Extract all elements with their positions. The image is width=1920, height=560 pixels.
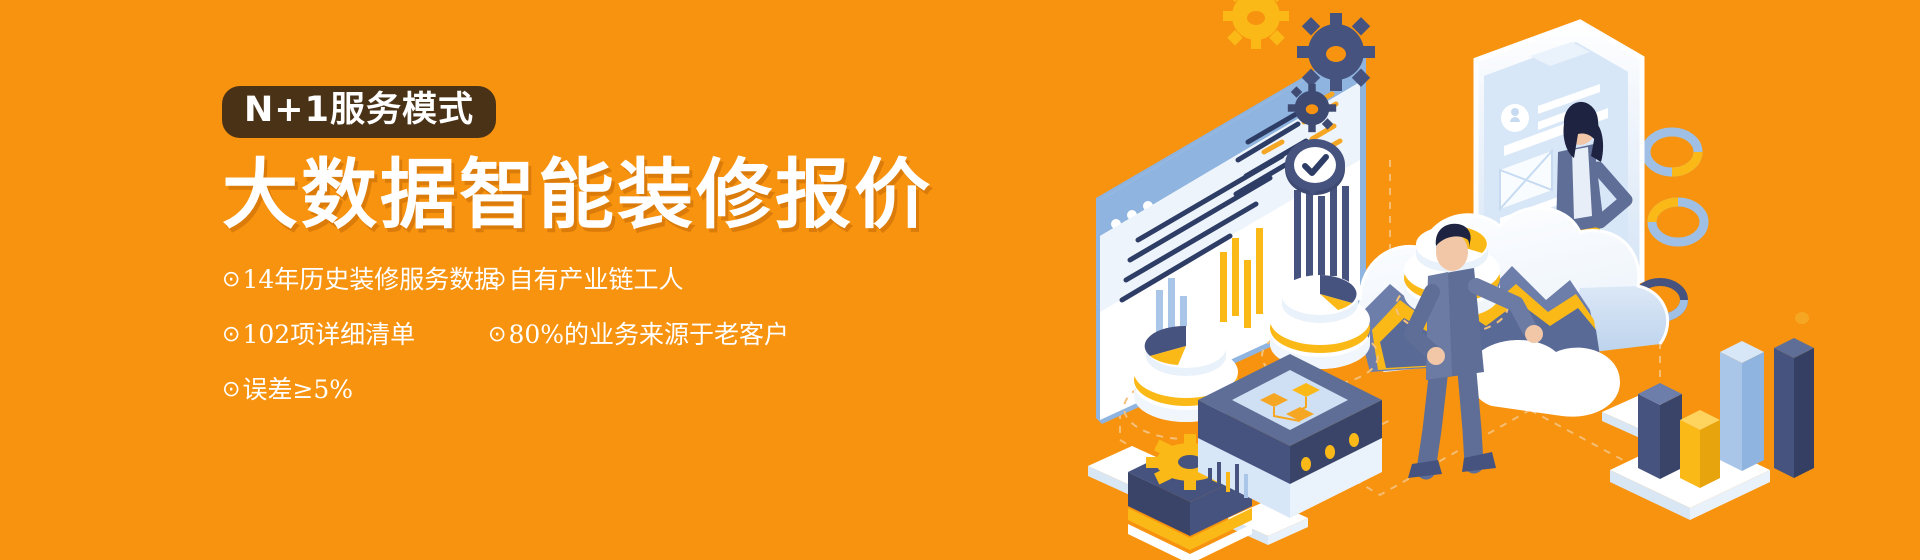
list-item: ⊙误差≥5%	[222, 377, 488, 403]
list-item-label: 自有产业链工人	[508, 265, 683, 294]
banner-copy-block: N+1服务模式 大数据智能装修报价 ⊙14年历史装修服务数据 ⊙102项详细清单…	[222, 86, 982, 432]
gear-navy-icon	[1297, 13, 1375, 91]
service-mode-badge: N+1服务模式	[222, 86, 496, 138]
gear-yellow-icon	[1223, 0, 1289, 49]
bar-chart-3d	[1610, 338, 1814, 520]
bullet-circle-dot-icon: ⊙	[222, 267, 240, 292]
list-item-label: 误差≥5%	[242, 375, 353, 404]
list-item: ⊙80%的业务来源于老客户	[488, 322, 782, 348]
bullet-circle-dot-icon: ⊙	[222, 322, 240, 347]
bullet-circle-dot-icon: ⊙	[222, 377, 240, 402]
list-item: ⊙14年历史装修服务数据	[222, 267, 488, 293]
list-item-label: 102项详细清单	[242, 320, 415, 349]
promo-banner: N+1服务模式 大数据智能装修报价 ⊙14年历史装修服务数据 ⊙102项详细清单…	[0, 0, 1920, 560]
page-title: 大数据智能装修报价	[222, 157, 982, 233]
bullet-circle-dot-icon: ⊙	[488, 322, 506, 347]
list-item: ⊙自有产业链工人	[488, 267, 782, 293]
data-cloud-area-chart	[1355, 208, 1668, 417]
list-item: ⊙102项详细清单	[222, 322, 488, 348]
feature-list: ⊙14年历史装修服务数据 ⊙102项详细清单 ⊙误差≥5% ⊙自有产业链工人 ⊙…	[222, 267, 782, 432]
bullet-circle-dot-icon: ⊙	[488, 267, 506, 292]
feature-column-right: ⊙自有产业链工人 ⊙80%的业务来源于老客户	[488, 267, 782, 432]
illustration-big-data	[1060, 0, 1920, 560]
list-item-label: 80%的业务来源于老客户	[508, 320, 789, 349]
list-item-label: 14年历史装修服务数据	[242, 265, 499, 294]
feature-column-left: ⊙14年历史装修服务数据 ⊙102项详细清单 ⊙误差≥5%	[222, 267, 488, 432]
orange-dot-accent	[1795, 312, 1809, 324]
